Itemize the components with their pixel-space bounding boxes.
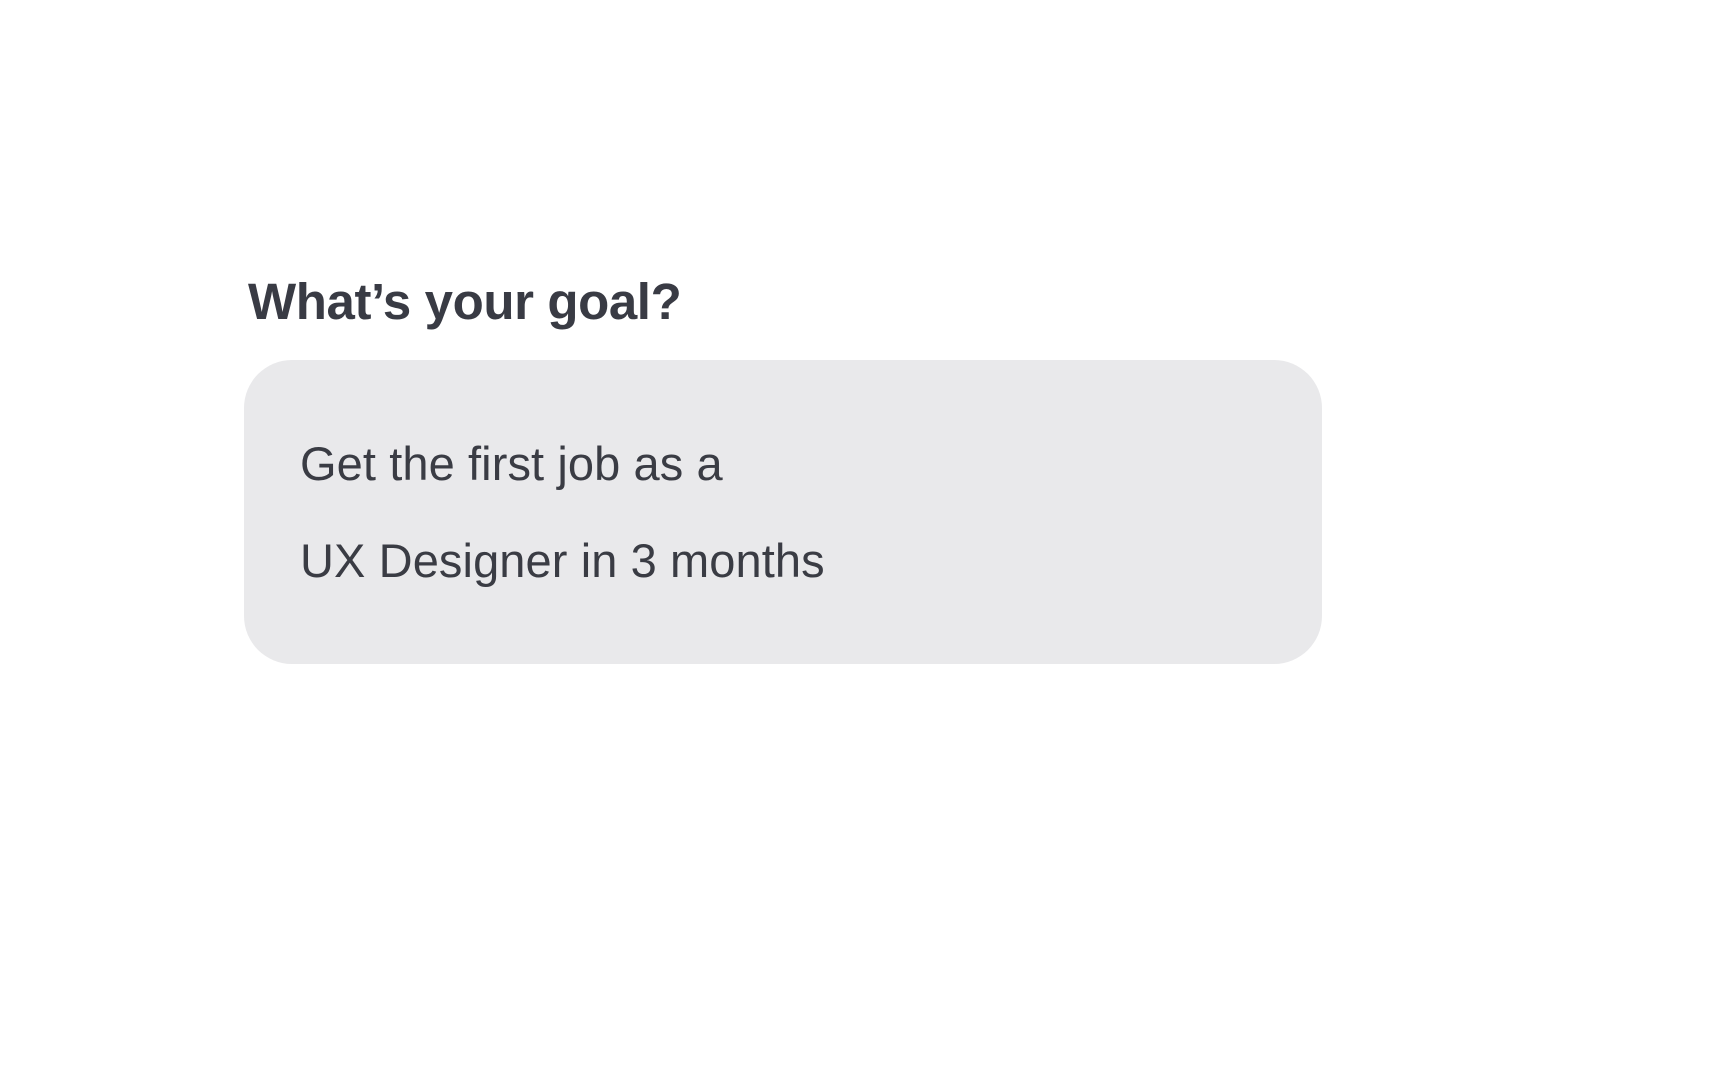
goal-answer-card[interactable]: Get the first job as a UX Designer in 3 … <box>244 360 1322 664</box>
goal-section: What’s your goal? Get the first job as a… <box>244 272 1344 664</box>
goal-answer-line-1: Get the first job as a <box>300 440 1266 487</box>
page-title: What’s your goal? <box>244 272 1344 332</box>
app-screen: What’s your goal? Get the first job as a… <box>0 0 1728 1080</box>
goal-answer-text: Get the first job as a UX Designer in 3 … <box>300 440 1266 584</box>
goal-answer-line-2: UX Designer in 3 months <box>300 537 1266 584</box>
